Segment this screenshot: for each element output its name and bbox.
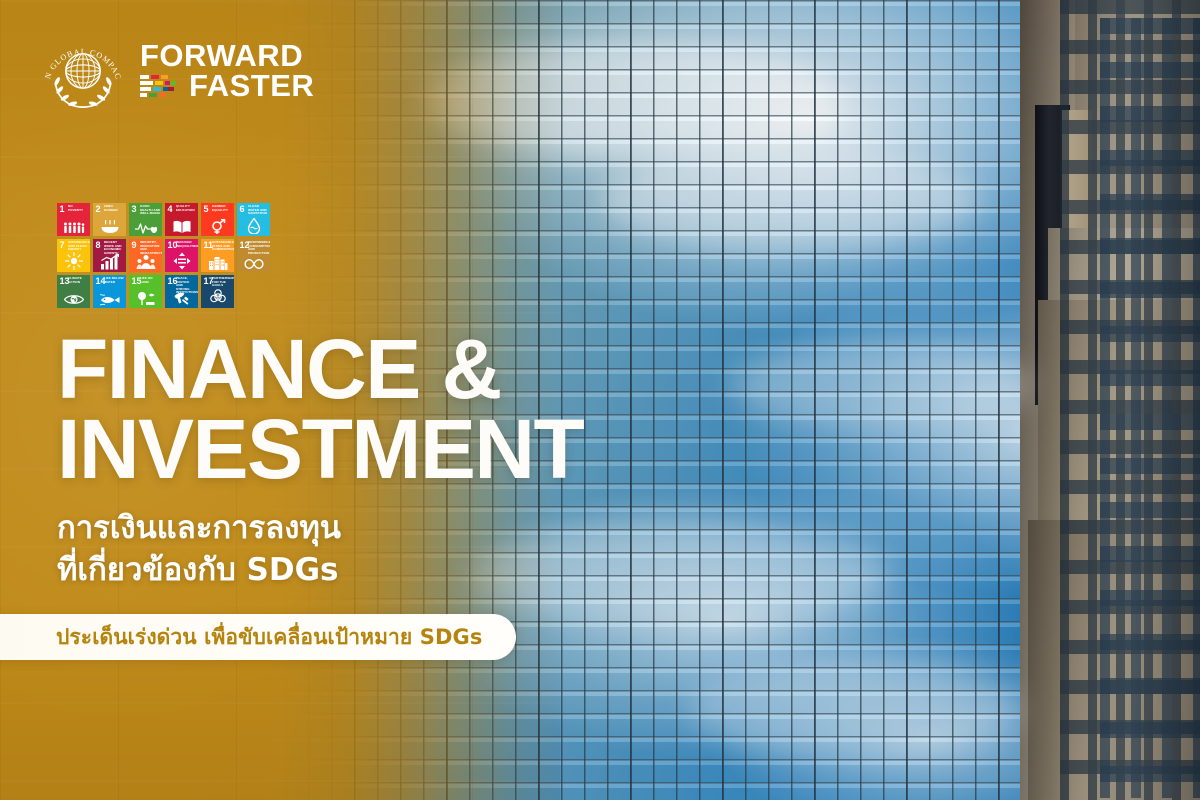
sdg-tile-5[interactable]: 5GENDER EQUALITY bbox=[201, 203, 234, 236]
sun-icon bbox=[57, 252, 90, 270]
subtitle-thai: การเงินและการลงทุน ที่เกี่ยวข้องกับ SDGs bbox=[57, 508, 341, 592]
sdg-tile-12[interactable]: 12RESPONSIBLE CONSUMPTION AND PRODUCTION bbox=[237, 239, 270, 272]
sdg-tile-15[interactable]: 15LIFE ON LAND bbox=[129, 275, 162, 308]
sdg-tile-1[interactable]: 1NO POVERTY bbox=[57, 203, 90, 236]
sdg-tile-6[interactable]: 6CLEAN WATER AND SANITATION bbox=[237, 203, 270, 236]
sdg-tile-title: CLEAN WATER AND SANITATION bbox=[248, 205, 269, 216]
poster-content: UN GLOBAL COMPACT bbox=[0, 0, 1200, 800]
un-global-compact-emblem-icon[interactable]: UN GLOBAL COMPACT bbox=[40, 28, 126, 114]
sdg-tile-number: 9 bbox=[132, 241, 137, 250]
sdg-tile-title: QUALITY EDUCATION bbox=[176, 205, 197, 212]
sdg-tile-number: 5 bbox=[204, 205, 209, 214]
sdg-tile-16[interactable]: 16PEACE, JUSTICE AND STRONG INSTITUTIONS bbox=[165, 275, 198, 308]
faster-label: FASTER bbox=[189, 71, 314, 101]
sdg-tile-title: LIFE BELOW WATER bbox=[104, 277, 125, 284]
forward-faster-row-top: FORWARD bbox=[140, 41, 314, 71]
sdg-tile-title: NO POVERTY bbox=[68, 205, 89, 212]
circle-rings-icon bbox=[201, 288, 234, 306]
people-icon bbox=[57, 220, 90, 234]
sdg-tile-title: PARTNERSHIPS FOR THE GOALS bbox=[212, 277, 233, 288]
sdg-tile-number: 1 bbox=[60, 205, 65, 214]
sdg-tile-title: AFFORDABLE AND CLEAN ENERGY bbox=[68, 241, 89, 252]
gender-icon bbox=[201, 218, 234, 234]
book-icon bbox=[165, 219, 198, 234]
sdg-tile-number: 4 bbox=[168, 205, 173, 214]
forward-faster-logo[interactable]: FORWARD bbox=[140, 41, 314, 102]
city-icon bbox=[201, 254, 234, 270]
sdg-tile-number: 3 bbox=[132, 205, 137, 214]
sdg-tile-title: SUSTAINABLE CITIES AND COMMUNITIES bbox=[212, 241, 233, 252]
dove-gavel-icon bbox=[165, 289, 198, 306]
sdg-tile-title: GENDER EQUALITY bbox=[212, 205, 233, 212]
sdg-tile-4[interactable]: 4QUALITY EDUCATION bbox=[165, 203, 198, 236]
sdg-tile-number: 6 bbox=[240, 205, 245, 214]
sdg-tile-17[interactable]: 17PARTNERSHIPS FOR THE GOALS bbox=[201, 275, 234, 308]
water-drop-icon bbox=[237, 218, 270, 234]
sdg-tile-title: REDUCED INEQUALITIES bbox=[176, 241, 197, 248]
sdg-tile-title: LIFE ON LAND bbox=[140, 277, 161, 284]
sdg-tile-14[interactable]: 14LIFE BELOW WATER bbox=[93, 275, 126, 308]
forward-label: FORWARD bbox=[140, 41, 303, 71]
sdg-tile-title: GOOD HEALTH AND WELL-BEING bbox=[140, 205, 161, 216]
sdg-tile-title: CLIMATE ACTION bbox=[68, 277, 89, 284]
sdg-tile-13[interactable]: 13CLIMATE ACTION bbox=[57, 275, 90, 308]
forward-faster-row-bottom: FASTER bbox=[140, 71, 314, 101]
sdg-tile-3[interactable]: 3GOOD HEALTH AND WELL-BEING bbox=[129, 203, 162, 236]
page-title: FINANCE & INVESTMENT bbox=[57, 330, 583, 490]
tree-bird-icon bbox=[129, 290, 162, 306]
sdg-tile-7[interactable]: 7AFFORDABLE AND CLEAN ENERGY bbox=[57, 239, 90, 272]
growth-chart-icon bbox=[93, 254, 126, 270]
sdg-tile-2[interactable]: 2ZERO HUNGER bbox=[93, 203, 126, 236]
sdg-tile-number: 8 bbox=[96, 241, 101, 250]
sdg-tile-title: RESPONSIBLE CONSUMPTION AND PRODUCTION bbox=[248, 241, 269, 255]
heartbeat-icon bbox=[129, 219, 162, 234]
sdg-goal-grid[interactable]: 1NO POVERTY2ZERO HUNGER3GOOD HEALTH AND … bbox=[57, 203, 279, 308]
fish-icon bbox=[93, 291, 126, 306]
sdg-tile-9[interactable]: 9INDUSTRY, INNOVATION AND INFRASTRUCTURE bbox=[129, 239, 162, 272]
sdg-tile-title: ZERO HUNGER bbox=[104, 205, 125, 212]
sdg-tile-11[interactable]: 11SUSTAINABLE CITIES AND COMMUNITIES bbox=[201, 239, 234, 272]
bowl-icon bbox=[93, 219, 126, 234]
eye-globe-icon bbox=[57, 291, 90, 306]
infinity-icon bbox=[237, 256, 270, 270]
tagline-pill: ประเด็นเร่งด่วน เพื่อขับเคลื่อนเป้าหมาย … bbox=[0, 614, 516, 660]
industry-icon bbox=[129, 254, 162, 270]
sdg-tile-8[interactable]: 8DECENT WORK AND ECONOMIC GROWTH bbox=[93, 239, 126, 272]
sdg-tile-10[interactable]: 10REDUCED INEQUALITIES bbox=[165, 239, 198, 272]
forward-faster-chevron-icon bbox=[140, 73, 180, 99]
sdg-tile-number: 2 bbox=[96, 205, 101, 214]
tagline-text: ประเด็นเร่งด่วน เพื่อขับเคลื่อนเป้าหมาย … bbox=[56, 621, 482, 654]
logo-lockup[interactable]: UN GLOBAL COMPACT bbox=[40, 28, 314, 114]
sdg-tile-number: 7 bbox=[60, 241, 65, 250]
poster-canvas: UN GLOBAL COMPACT bbox=[0, 0, 1200, 800]
equal-arrows-icon bbox=[165, 252, 198, 270]
